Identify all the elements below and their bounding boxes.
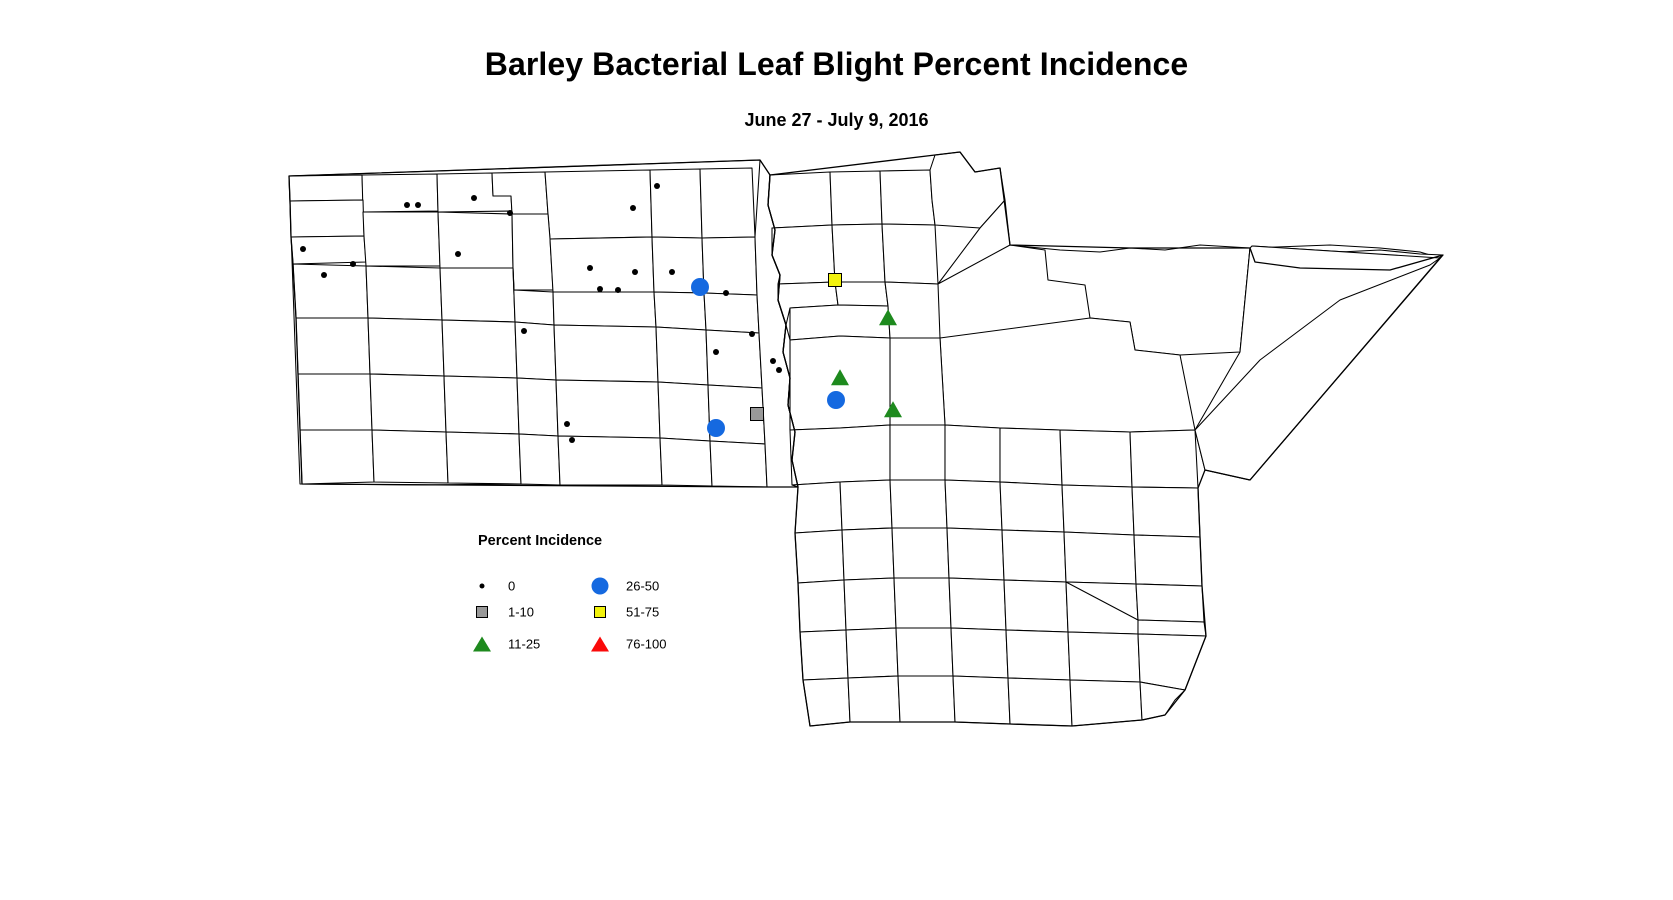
map-marker-0 [630, 205, 636, 211]
legend-label: 11-25 [508, 637, 540, 652]
triangle-symbol-icon [588, 632, 612, 656]
map-marker-11-25 [831, 369, 849, 385]
map-marker-0 [615, 287, 621, 293]
dot-symbol-icon [470, 574, 494, 598]
square-symbol-icon [470, 600, 494, 624]
legend-title: Percent Incidence [478, 533, 602, 549]
map-marker-0 [749, 331, 755, 337]
data-point-layer [0, 0, 1673, 900]
map-marker-0 [300, 246, 306, 252]
map-marker-0 [770, 358, 776, 364]
map-marker-0 [404, 202, 410, 208]
circle-symbol-icon [588, 574, 612, 598]
map-marker-0 [321, 272, 327, 278]
map-marker-51-75 [828, 273, 842, 287]
map-marker-0 [415, 202, 421, 208]
square-symbol-icon [588, 600, 612, 624]
legend-label: 51-75 [626, 605, 659, 620]
map-marker-0 [564, 421, 570, 427]
map-marker-26-50 [707, 419, 725, 437]
map-marker-0 [507, 210, 513, 216]
map-marker-0 [713, 349, 719, 355]
legend-label: 26-50 [626, 579, 659, 594]
map-marker-0 [597, 286, 603, 292]
map-marker-26-50 [691, 278, 709, 296]
map-marker-0 [723, 290, 729, 296]
map-marker-11-25 [884, 401, 902, 417]
map-canvas [0, 0, 1673, 900]
map-marker-0 [632, 269, 638, 275]
map-marker-26-50 [827, 391, 845, 409]
map-marker-0 [654, 183, 660, 189]
map-marker-0 [776, 367, 782, 373]
legend-label: 76-100 [626, 637, 666, 652]
triangle-symbol-icon [470, 632, 494, 656]
map-marker-0 [455, 251, 461, 257]
legend-label: 0 [508, 579, 515, 594]
map-marker-0 [569, 437, 575, 443]
map-marker-0 [587, 265, 593, 271]
map-marker-0 [350, 261, 356, 267]
legend-label: 1-10 [508, 605, 534, 620]
map-marker-0 [521, 328, 527, 334]
map-marker-11-25 [879, 309, 897, 325]
map-page: Barley Bacterial Leaf Blight Percent Inc… [0, 0, 1673, 900]
map-marker-0 [471, 195, 477, 201]
map-marker-0 [669, 269, 675, 275]
legend: Percent Incidence 01-1011-2526-5051-7576… [470, 533, 730, 663]
map-marker-1-10 [750, 407, 764, 421]
